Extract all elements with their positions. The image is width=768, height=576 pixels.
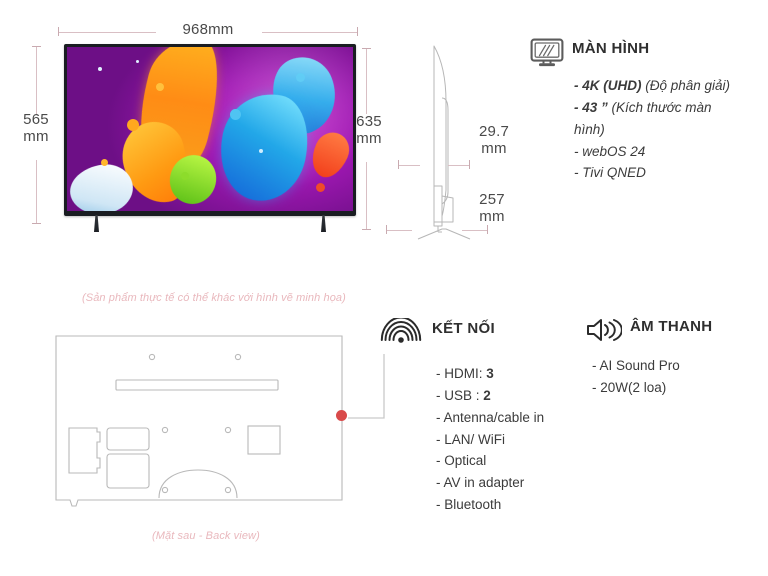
screen-spec-block: MÀN HÌNH - 4K (UHD) (Độ phân giải) - 43 … [530,38,762,184]
height-left-tick-bottom [32,223,41,224]
droplet-orange-2 [156,83,164,91]
depth-tick-right [469,160,470,169]
depth-label: 29.7 mm [466,124,522,158]
stand-depth-label: 257 mm [464,192,520,226]
list-item: - 20W(2 loa) [588,377,761,399]
stand-depth-tick-right [487,225,488,234]
screen-spec-title: MÀN HÌNH [572,38,649,58]
stand-depth-line-left [386,230,412,231]
list-item: - LAN/ WiFi [436,429,568,451]
height-right-line-bottom [366,162,367,230]
height-right-tick-bottom [362,229,371,230]
connection-spec-list: - HDMI: 3 - USB : 2 - Antenna/cable in -… [436,363,568,516]
tv-screen-artwork [67,47,353,211]
list-item: - 4K (UHD) (Độ phân giải) [574,75,739,97]
width-dim-tick-right [357,27,358,36]
height-right-value: 635 [356,113,382,130]
screen-item-2-note: - webOS 24 [574,144,645,159]
sound-spec-title: ÂM THANH [630,316,712,336]
list-item: - AV in adapter [436,472,568,494]
connection-spec-block: KẾT NỐI - HDMI: 3 - USB : 2 - Antenna/ca… [378,318,568,516]
width-dimension-label: 968mm [158,22,258,39]
conn-item-0-label: - HDMI: [436,366,486,381]
width-dimension-line-left [58,32,156,33]
wireless-signal-icon-svg [378,318,424,354]
depth-unit: mm [481,140,506,157]
droplet-orange-3 [101,159,108,166]
list-item: - Antenna/cable in [436,407,568,429]
conn-item-0-value: 3 [486,366,494,381]
list-item: - AI Sound Pro [588,355,761,377]
list-item: - webOS 24 [574,141,739,163]
width-dimension-line-right [262,32,358,33]
sound-spec-block: ÂM THANH - AI Sound Pro - 20W(2 loa) [586,316,761,399]
height-left-value: 565 [23,111,49,128]
height-left-unit: mm [23,128,48,145]
screen-item-0-note: (Độ phân giải) [642,78,731,93]
sound-spec-header: ÂM THANH [586,316,761,349]
stand-depth-value: 257 [479,191,505,208]
tv-spec-infographic: 968mm 565 mm 635 mm [0,0,768,576]
screen-spec-header: MÀN HÌNH [530,38,762,73]
droplet-white-3 [259,149,263,153]
screen-item-1-value: - 43 ” [574,100,608,115]
list-item: - HDMI: 3 [436,363,568,385]
tv-front-view [64,44,356,216]
list-item: - Optical [436,450,568,472]
wireless-signal-icon [378,318,424,359]
height-left-tick-top [32,46,41,47]
splash-red [305,127,353,183]
list-item: - USB : 2 [436,385,568,407]
height-right-unit: mm [356,130,381,147]
list-item: - Tivi QNED [574,162,739,184]
speaker-icon-svg [586,316,622,344]
sound-item-0-label: - AI Sound Pro [592,358,680,373]
stand-depth-line-right [462,230,488,231]
connection-spec-title: KẾT NỐI [432,318,495,338]
depth-value: 29.7 [479,123,509,140]
sound-item-1-label: - 20W(2 loa) [592,380,666,395]
monitor-icon [530,38,564,73]
connection-spec-header: KẾT NỐI [378,318,568,359]
height-right-tick-top [362,48,371,49]
height-left-line-bottom [36,160,37,224]
screen-item-3-note: - Tivi QNED [574,165,646,180]
tv-foot-right [321,215,326,232]
sound-spec-list: - AI Sound Pro - 20W(2 loa) [588,355,761,399]
width-dim-tick-left [58,27,59,36]
conn-item-5-label: - AV in adapter [436,475,524,490]
droplet-white-1 [98,67,102,71]
list-item: - 43 ” (Kích thước màn hình) [574,97,739,141]
conn-item-3-label: - LAN/ WiFi [436,432,505,447]
screen-spec-list: - 4K (UHD) (Độ phân giải) - 43 ” (Kích t… [574,75,739,184]
back-view-caption: (Mặt sau - Back view) [152,530,260,542]
conn-item-2-label: - Antenna/cable in [436,410,544,425]
droplet-red-1 [316,183,325,192]
monitor-icon-svg [530,38,564,68]
tv-back-view-svg [52,318,364,518]
stand-depth-unit: mm [479,208,504,225]
droplet-white-2 [136,60,139,63]
screen-item-0-value: - 4K (UHD) [574,78,642,93]
tv-back-view [52,318,364,518]
depth-dimension-line-left [398,165,420,166]
list-item: - Bluetooth [436,494,568,516]
height-left-label: 565 mm [6,112,66,146]
height-left-line-top [36,46,37,114]
conn-item-6-label: - Bluetooth [436,497,501,512]
height-right-line-top [366,48,367,114]
front-view-caption: (Sản phẩm thực tế có thể khác với hình v… [82,292,346,304]
conn-item-1-value: 2 [483,388,491,403]
connector-dot [336,410,347,421]
conn-item-4-label: - Optical [436,453,486,468]
depth-tick-left [398,160,399,169]
depth-dimension-line-right [448,165,470,166]
conn-item-1-label: - USB : [436,388,483,403]
tv-foot-left [94,215,99,232]
stand-depth-tick-left [386,225,387,234]
droplet-cyan-2 [296,73,305,82]
speaker-icon [586,316,622,349]
